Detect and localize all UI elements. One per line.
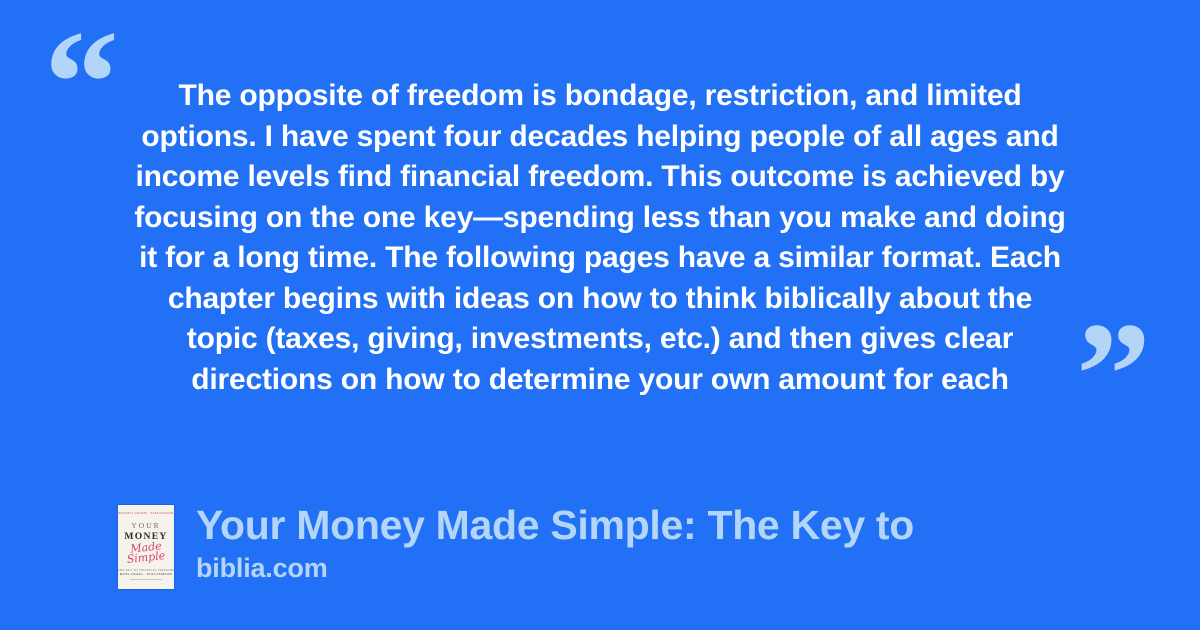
quote-text: The opposite of freedom is bondage, rest… <box>100 76 1100 400</box>
quote-line: it for a long time. The following pages … <box>100 238 1100 279</box>
book-cover-title-word-1: YOUR <box>118 522 174 529</box>
quote-card: “ ” The opposite of freedom is bondage, … <box>0 0 1200 630</box>
site-name[interactable]: biblia.com <box>196 553 914 583</box>
quote-line: income levels find financial freedom. Th… <box>100 157 1100 198</box>
quote-line: chapter begins with ideas on how to thin… <box>100 279 1100 320</box>
footer-text-block: Your Money Made Simple: The Key to bibli… <box>196 501 914 583</box>
quote-line: options. I have spent four decades helpi… <box>100 117 1100 158</box>
book-cover-top-line: RUSSELL CRANE · SAM WATSON <box>118 512 174 515</box>
book-title[interactable]: Your Money Made Simple: The Key to <box>196 501 914 549</box>
book-cover-author: RUSS CRAIG · WILLIAMSON <box>118 573 174 576</box>
attribution-footer: RUSSELL CRANE · SAM WATSON YOUR MONEY Ma… <box>118 505 914 589</box>
quote-line: directions on how to determine your own … <box>100 360 1100 401</box>
quote-line: focusing on the one key—spending less th… <box>100 198 1100 239</box>
quote-line: topic (taxes, giving, investments, etc.)… <box>100 319 1100 360</box>
book-cover-divider <box>130 579 162 580</box>
quote-line: The opposite of freedom is bondage, rest… <box>100 76 1100 117</box>
book-cover-thumbnail: RUSSELL CRANE · SAM WATSON YOUR MONEY Ma… <box>118 505 174 589</box>
